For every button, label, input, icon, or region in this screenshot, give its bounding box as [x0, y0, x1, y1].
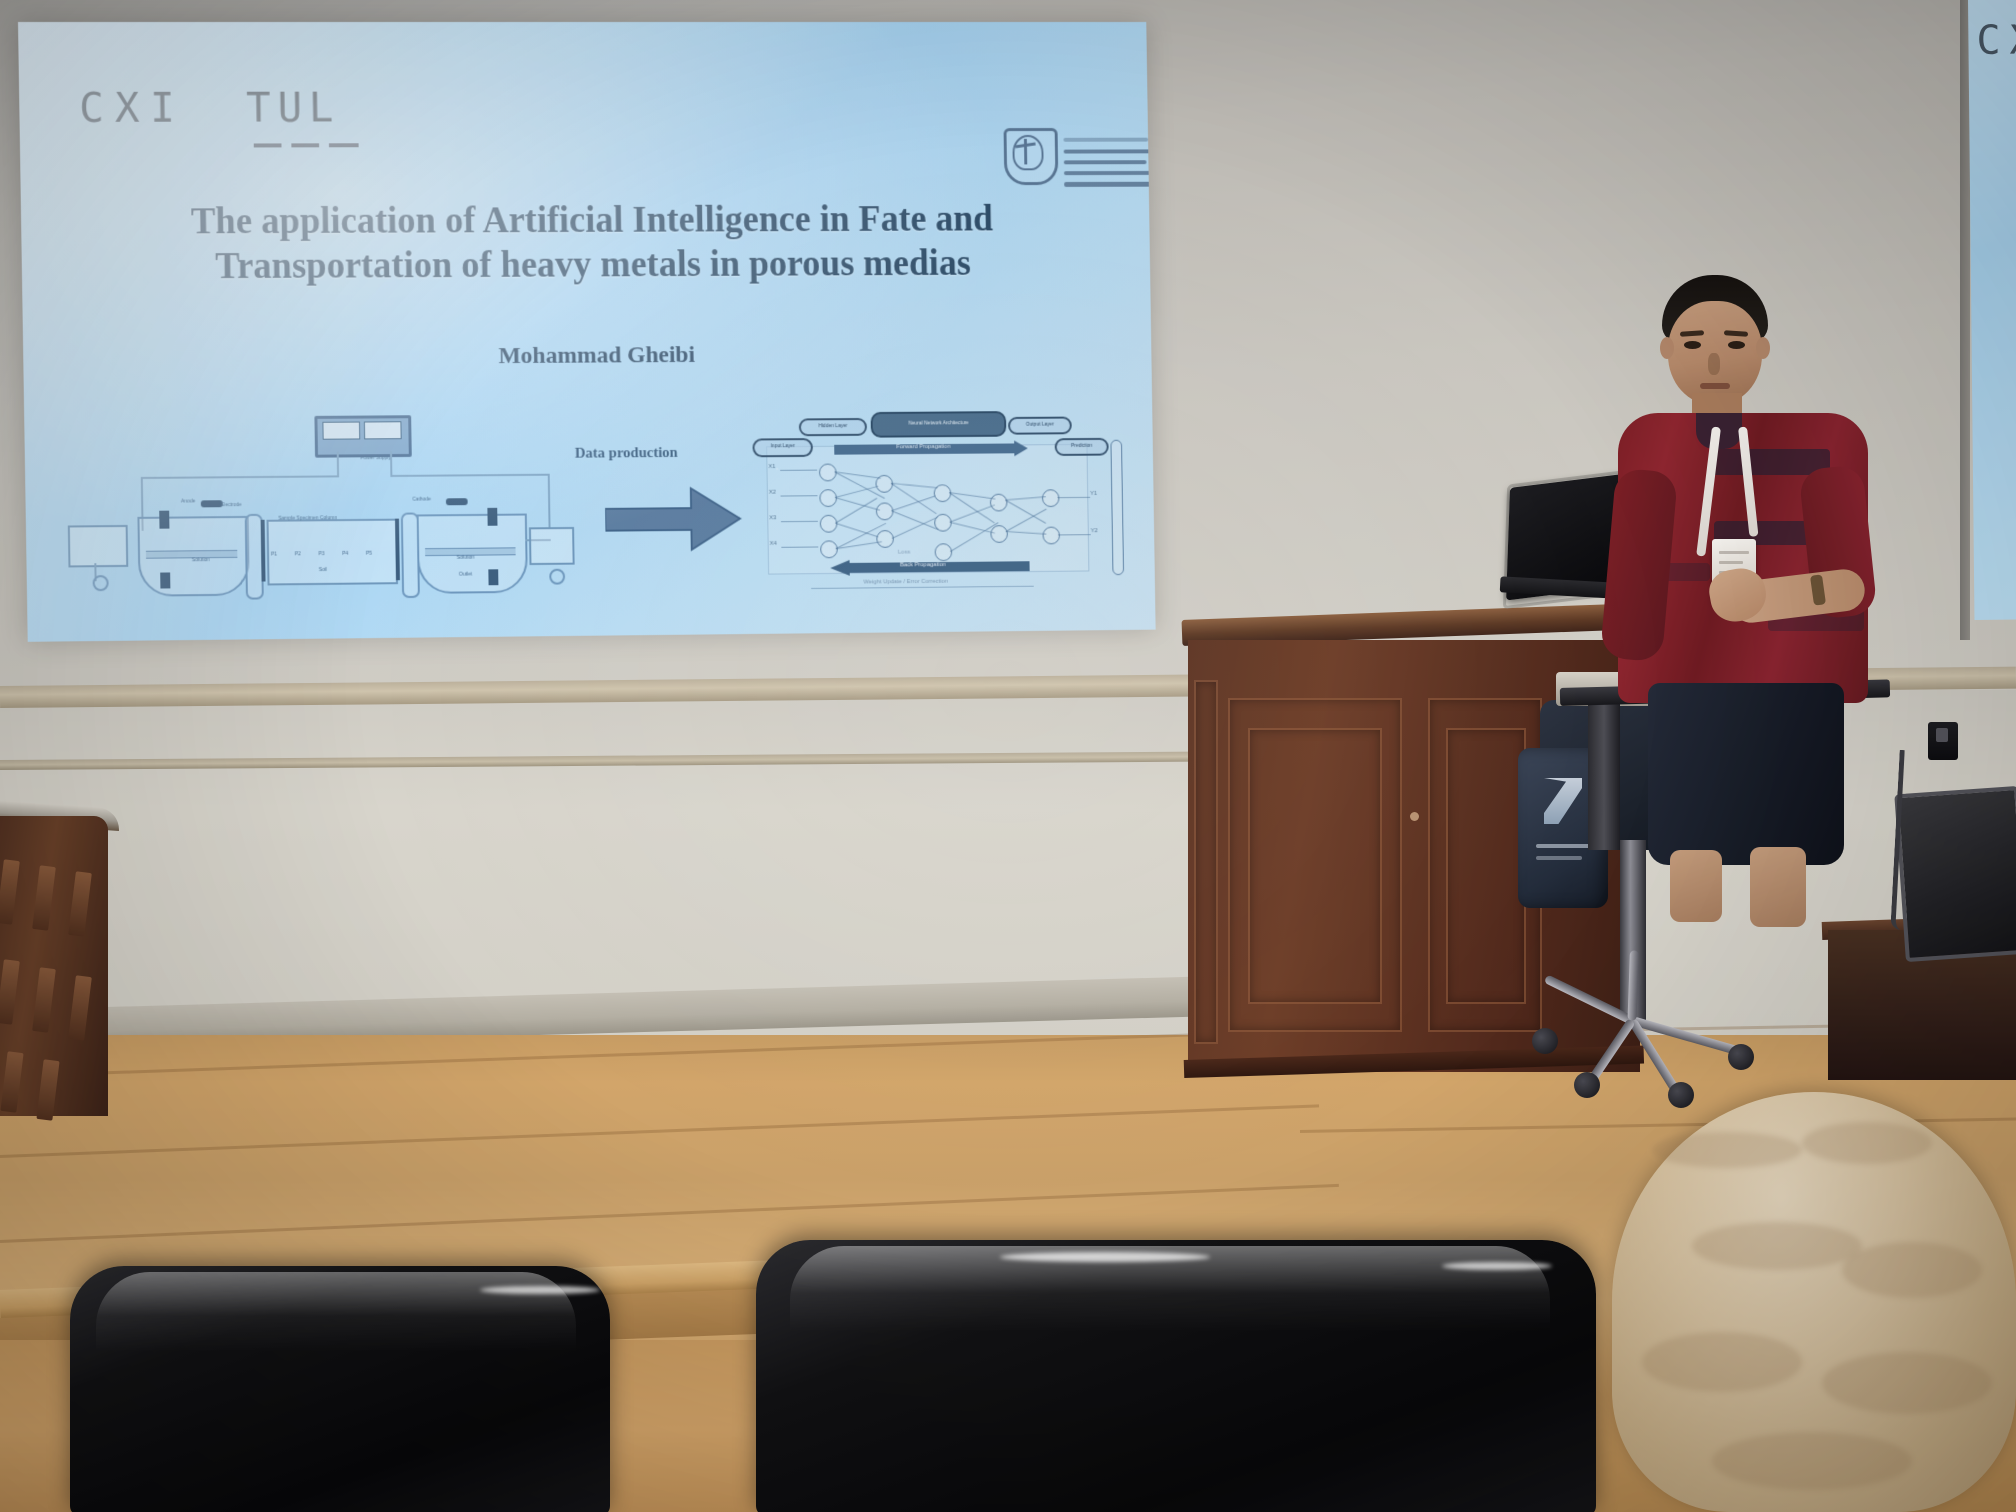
nn-pill-output-layer: Output Layer	[1008, 417, 1072, 435]
slide-author-name: Mohammad Gheibi	[143, 340, 1044, 372]
slide-logo-tul-underline	[254, 143, 359, 147]
slide-university-crest	[1004, 128, 1156, 197]
podium-keyhole	[1410, 812, 1419, 821]
chair-caster	[1668, 1082, 1694, 1108]
data-production-label: Data production	[575, 445, 678, 463]
chair-caster	[1574, 1072, 1600, 1098]
audience-chair-left	[70, 1266, 610, 1512]
presenter-shorts	[1648, 683, 1844, 865]
slide-logo-cxi: CXI	[79, 84, 186, 132]
left-wooden-desk	[0, 800, 120, 1120]
data-production-arrow-icon	[605, 486, 743, 552]
slide-title-line-1: The application of Artificial Intelligen…	[140, 197, 1041, 245]
presentation-photo-scene: CXI TUL The application of Artificial In…	[0, 0, 2016, 1512]
nn-pill-prediction: Prediction	[1055, 438, 1109, 456]
presenter-leg-right	[1750, 847, 1806, 927]
presenter-eye-left	[1684, 341, 1701, 349]
nn-side-rail	[1110, 440, 1124, 575]
presenter-nose	[1708, 353, 1720, 375]
presenter-person	[1600, 275, 1900, 915]
bag-brand-text	[1536, 844, 1594, 848]
presenter-ear-left	[1660, 337, 1674, 359]
nn-forward-label: Forward Propagation	[896, 444, 950, 450]
side-monitor	[1894, 786, 2016, 962]
wall-socket-hole-icon	[1936, 728, 1948, 742]
nn-bottom-label: Weight Update / Error Correction	[863, 579, 948, 586]
audience-chair-center	[756, 1240, 1596, 1512]
chair-caster	[1532, 1028, 1558, 1054]
slide-logo-tul: TUL	[246, 84, 341, 132]
nn-pill-architecture: Neural Network Architecture	[871, 411, 1007, 438]
presenter-mouth	[1700, 383, 1730, 389]
slide-apparatus-diagram: Power Supply Anode Electrode Solution	[62, 410, 579, 613]
presenter-eye-right	[1728, 341, 1745, 349]
reservoir-left	[68, 525, 128, 567]
slide-title: The application of Artificial Intelligen…	[140, 197, 1042, 290]
nn-backward-label: Back Propagation	[900, 562, 946, 568]
slide-title-line-2: Transportation of heavy metals in porous…	[141, 241, 1042, 290]
nn-pill-input-layer: Input Layer	[752, 438, 813, 457]
effluent-container	[529, 527, 575, 565]
bag-logo-icon	[1544, 778, 1582, 824]
slide-neural-network-diagram: Hidden Layer Neural Network Architecture…	[752, 402, 1132, 612]
crest-inner-icon	[1012, 135, 1043, 170]
second-screen-logo-cxi: CXI	[1976, 17, 2016, 64]
chair-caster	[1728, 1044, 1754, 1070]
projection-screen-main: CXI TUL The application of Artificial In…	[18, 22, 1156, 642]
soil-specimen-cell	[267, 519, 398, 586]
audience-member-head	[1612, 1092, 2016, 1512]
presenter-ear-right	[1756, 337, 1770, 359]
presenter-leg-left	[1670, 850, 1722, 922]
nn-pill-hidden-layer: Hidden Layer	[799, 418, 867, 436]
projection-screen-secondary: CXI	[1968, 0, 2016, 620]
